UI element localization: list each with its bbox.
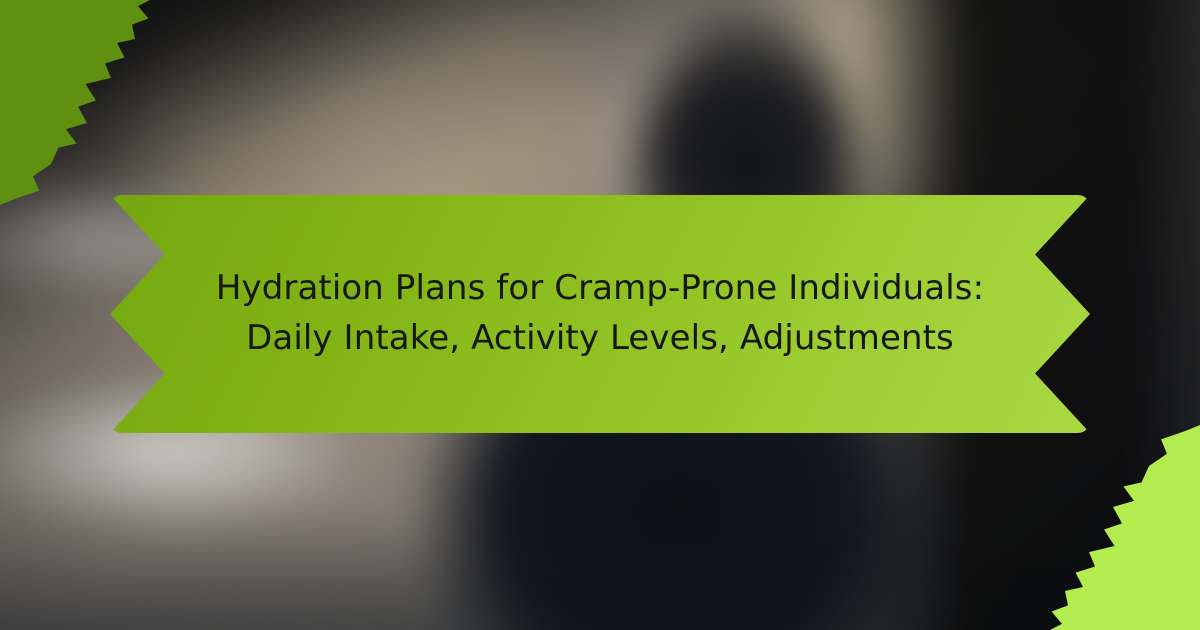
- banner-content: Hydration Plans for Cramp-Prone Individu…: [110, 195, 1090, 433]
- title-card: Hydration Plans for Cramp-Prone Individu…: [0, 0, 1200, 630]
- page-title-line-1: Hydration Plans for Cramp-Prone Individu…: [216, 264, 984, 314]
- page-title-line-2: Daily Intake, Activity Levels, Adjustmen…: [246, 314, 954, 364]
- title-banner: Hydration Plans for Cramp-Prone Individu…: [110, 195, 1090, 433]
